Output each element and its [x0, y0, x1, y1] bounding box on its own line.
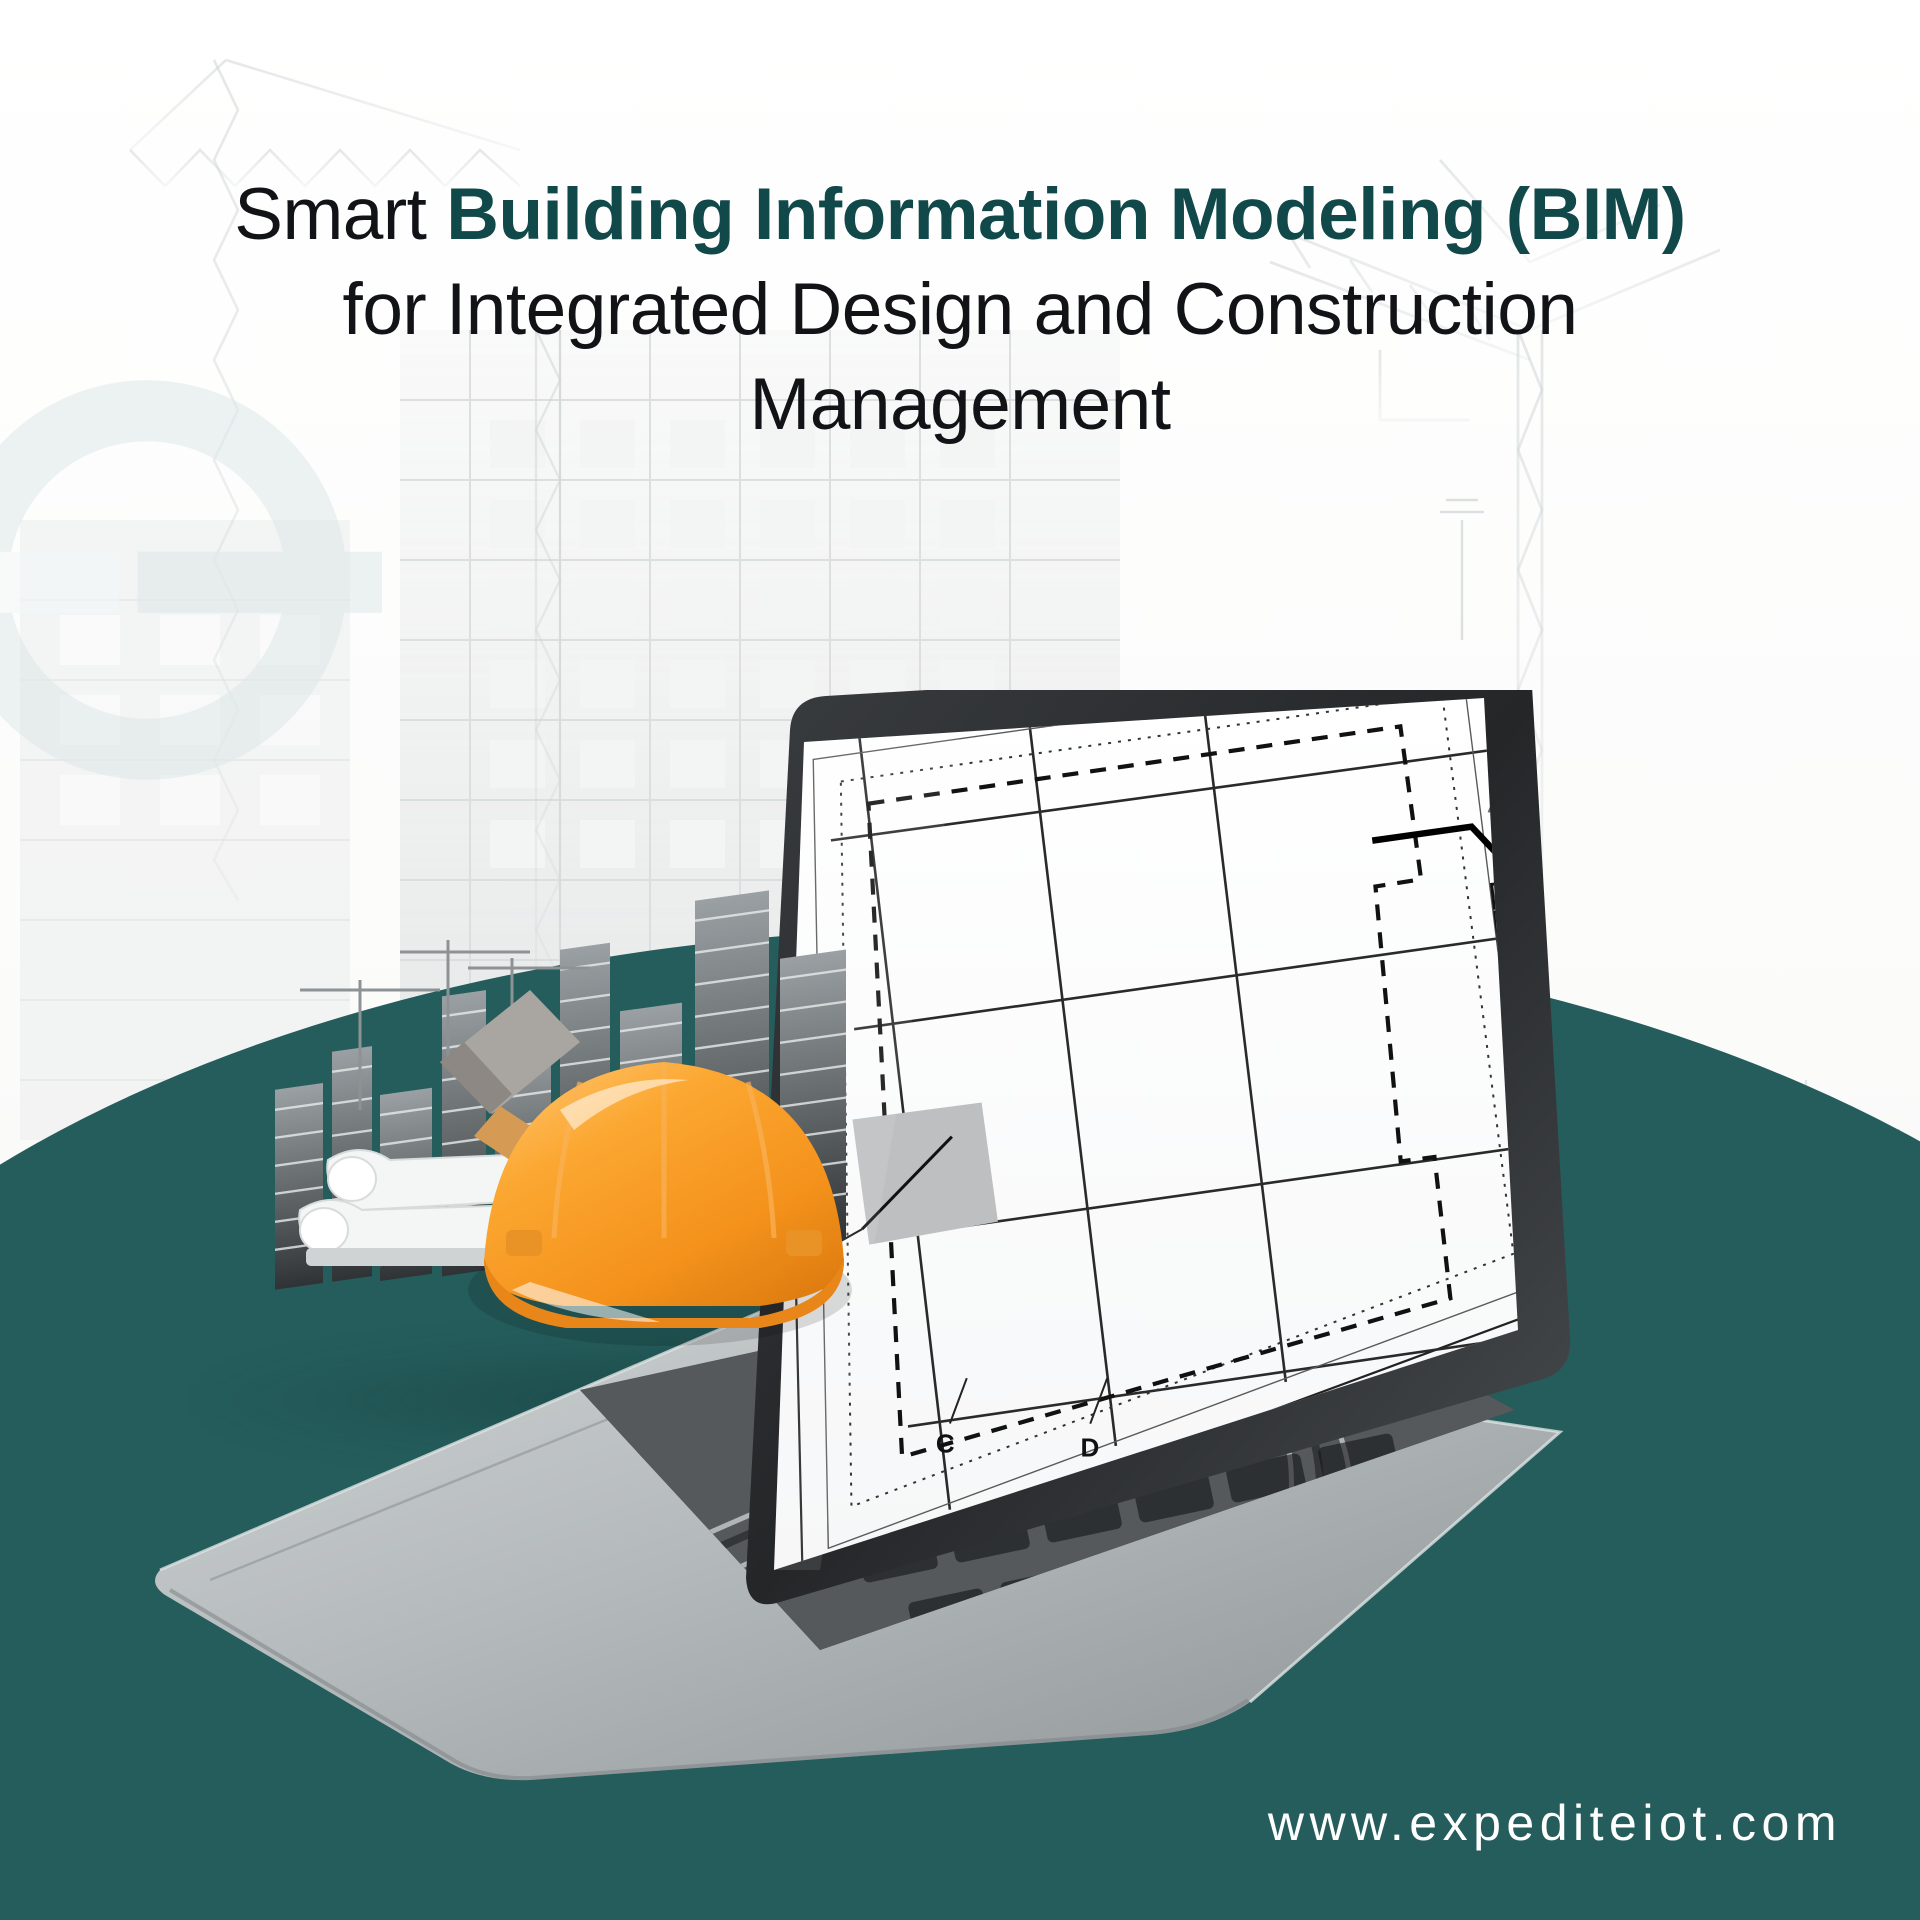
headline-line-2: for Integrated Design and Construction — [90, 263, 1830, 358]
laptop-with-blueprint-illustration: C D — [60, 690, 1860, 1870]
page-title: Smart Building Information Modeling (BIM… — [0, 168, 1920, 453]
headline-line-3: Management — [90, 358, 1830, 453]
headline-line1-plain: Smart — [234, 174, 446, 255]
blueprint-label-d: D — [1081, 1432, 1100, 1462]
blueprint-label-c: C — [936, 1429, 955, 1459]
headline-line-1: Smart Building Information Modeling (BIM… — [90, 168, 1830, 263]
poster-canvas: Smart Building Information Modeling (BIM… — [0, 0, 1920, 1920]
blueprint-stair-runs — [1585, 891, 1765, 1253]
website-url[interactable]: www.expediteiot.com — [1268, 1794, 1842, 1852]
headline-line1-strong: Building Information Modeling (BIM) — [446, 174, 1686, 255]
